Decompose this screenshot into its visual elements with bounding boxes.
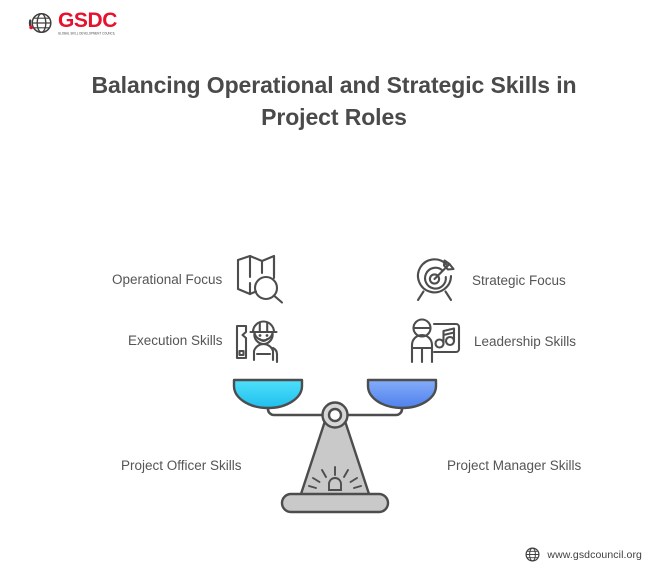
- globe-icon: [28, 10, 54, 36]
- logo-tagline: GLOBAL SKILL DEVELOPMENT COUNCIL: [58, 33, 115, 36]
- target-arrow-icon: [408, 254, 462, 306]
- slide-canvas: GSDC GLOBAL SKILL DEVELOPMENT COUNCIL Ba…: [0, 0, 668, 576]
- scale-pivot-hole: [329, 409, 341, 421]
- feature-leadership-skills: Leadership Skills: [408, 314, 576, 368]
- person-presentation-icon: [408, 314, 464, 368]
- globe-icon: [525, 547, 540, 562]
- feature-strategic-focus: Strategic Focus: [408, 254, 566, 306]
- balance-scale-graphic: [222, 366, 448, 526]
- feature-operational-focus: Operational Focus: [112, 252, 288, 306]
- feature-label: Execution Skills: [128, 333, 223, 348]
- footer-url[interactable]: www.gsdcouncil.org: [547, 549, 642, 561]
- pan-label-left: Project Officer Skills: [121, 458, 242, 473]
- page-title: Balancing Operational and Strategic Skil…: [84, 70, 584, 133]
- feature-label: Leadership Skills: [474, 334, 576, 349]
- logo-text: GSDC GLOBAL SKILL DEVELOPMENT COUNCIL: [58, 10, 117, 36]
- gsdc-logo: GSDC GLOBAL SKILL DEVELOPMENT COUNCIL: [28, 10, 117, 36]
- scale-pan-left: [234, 380, 302, 408]
- feature-execution-skills: Execution Skills: [128, 313, 291, 367]
- pan-label-right: Project Manager Skills: [447, 458, 581, 473]
- scale-plinth: [282, 494, 388, 512]
- scale-pan-right: [368, 380, 436, 408]
- feature-label: Strategic Focus: [472, 273, 566, 288]
- footer: www.gsdcouncil.org: [525, 547, 642, 562]
- worker-hardhat-icon: [233, 313, 291, 367]
- logo-wordmark: GSDC: [58, 10, 117, 31]
- feature-label: Operational Focus: [112, 272, 222, 287]
- map-search-icon: [232, 252, 288, 306]
